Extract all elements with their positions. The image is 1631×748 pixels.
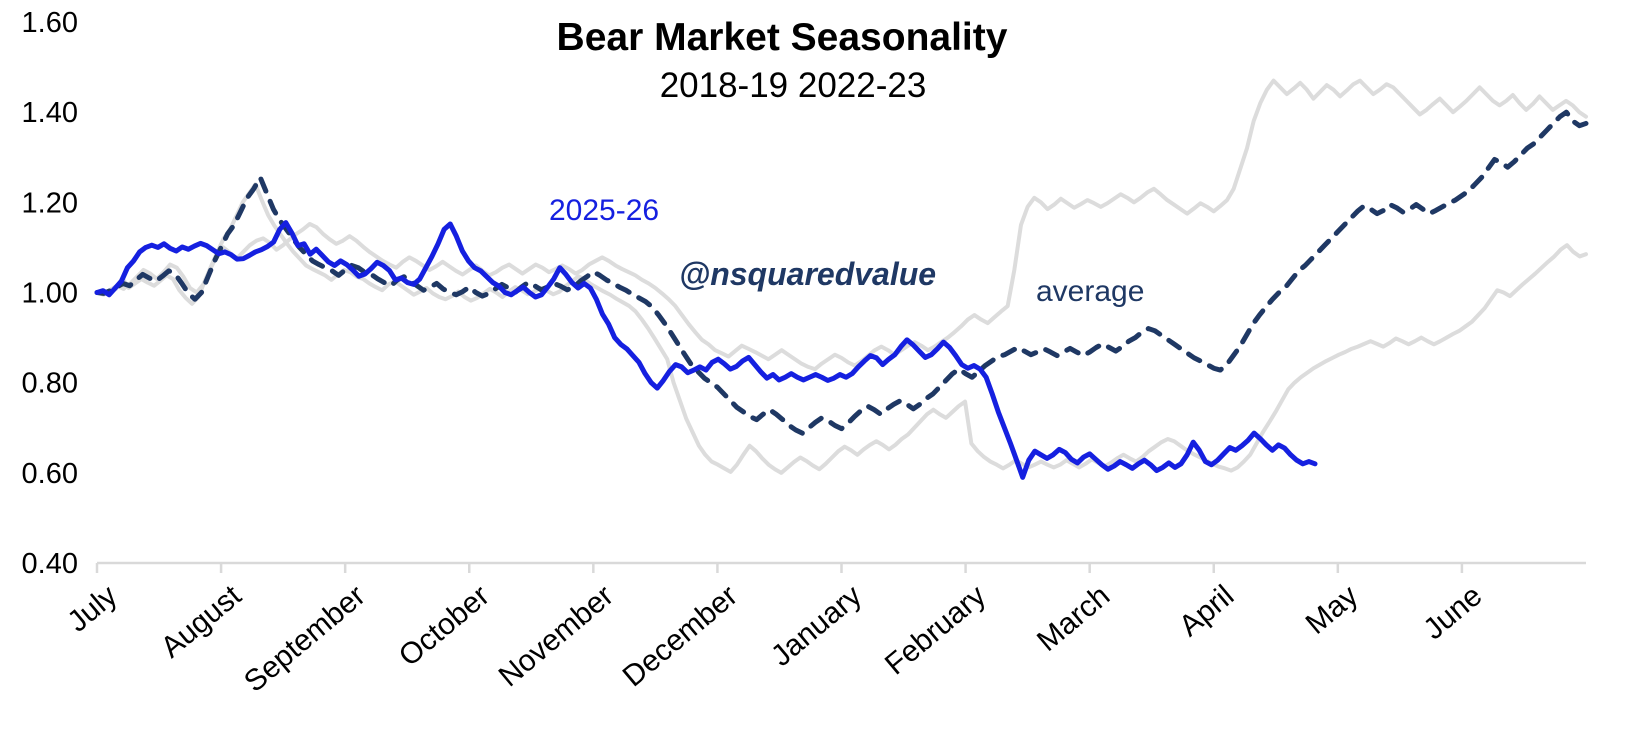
x-axis [97,563,1586,573]
chart-title: Bear Market Seasonality [557,16,1008,59]
x-tick-label: December [617,579,744,693]
series-line-2018-19 [97,81,1586,370]
annotation-handle: @nsquaredvalue [679,256,936,292]
y-tick-label: 0.60 [22,458,78,490]
x-axis-tick-labels: JulyAugustSeptemberOctoberNovemberDecemb… [61,579,1488,699]
x-tick-label: September [238,579,372,699]
bear-market-seasonality-chart: Bear Market Seasonality 2018-19 2022-23 … [0,0,1631,748]
y-axis-tick-labels: 1.601.401.201.000.800.600.40 [22,7,78,580]
y-tick-label: 0.80 [22,368,78,400]
annotation-average: average [1036,275,1144,308]
x-tick-label: June [1417,579,1488,646]
chart-subtitle: 2018-19 2022-23 [660,66,927,105]
x-tick-label: May [1300,579,1365,641]
x-tick-label: April [1173,579,1240,643]
chart-root: Bear Market Seasonality 2018-19 2022-23 … [0,0,1631,748]
x-tick-label: July [61,579,123,639]
x-tick-label: October [393,579,496,673]
x-tick-label: August [155,579,248,665]
y-tick-label: 1.60 [22,7,78,39]
y-tick-label: 0.40 [22,548,78,580]
y-tick-label: 1.20 [22,187,78,219]
annotation-2025-26: 2025-26 [549,194,659,227]
x-tick-label: January [765,579,868,673]
x-tick-label: February [879,579,992,681]
y-tick-label: 1.40 [22,97,78,129]
x-tick-label: March [1031,579,1116,658]
y-tick-label: 1.00 [22,278,78,310]
x-tick-label: November [493,579,620,693]
